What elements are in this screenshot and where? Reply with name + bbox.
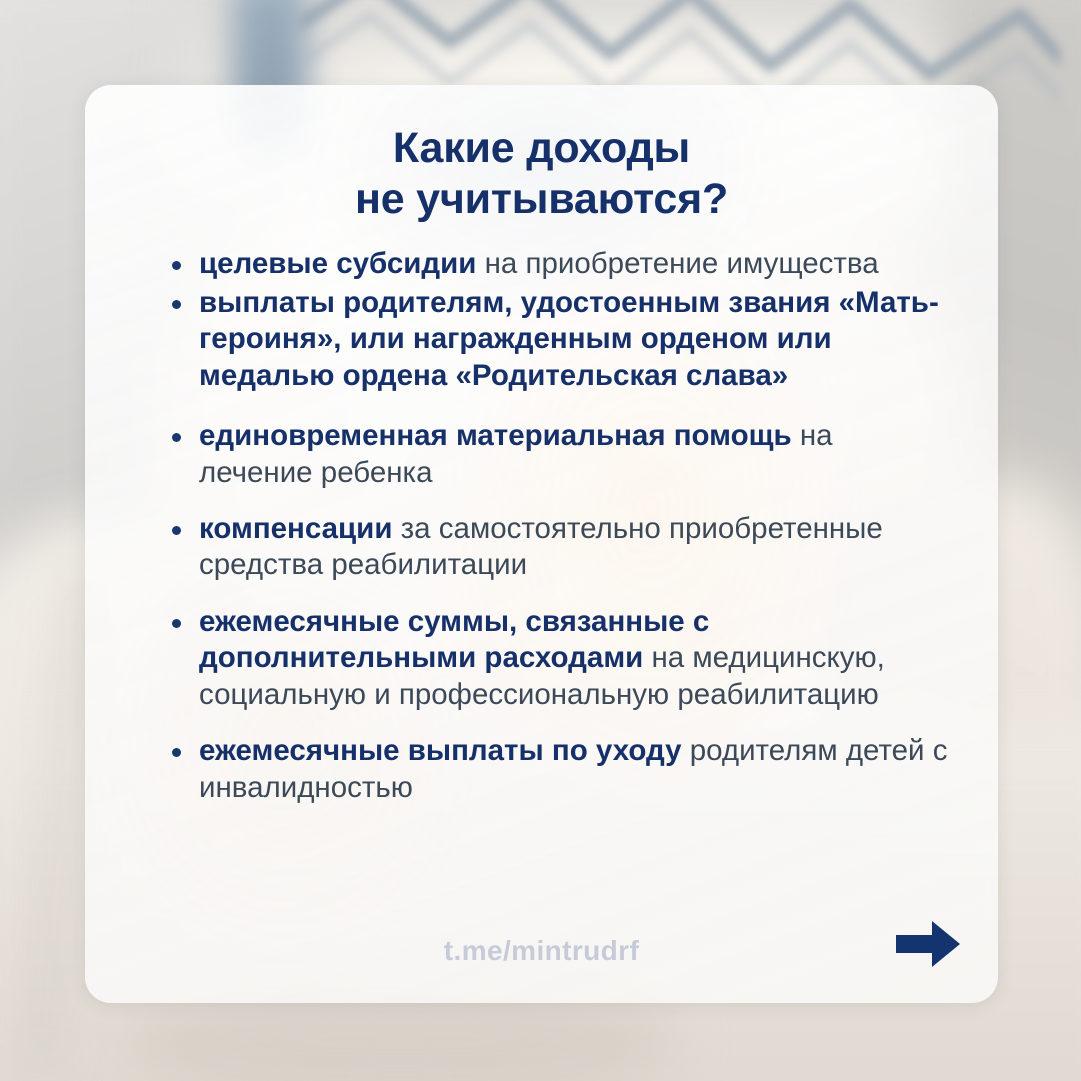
list-item: ежемесячные выплаты по уходу родителям д… <box>169 733 950 806</box>
page-title: Какие доходы не учитываются? <box>133 123 950 224</box>
list-item-bold: выплаты родителям, удостоенным звания «М… <box>199 286 939 392</box>
list-item: выплаты родителям, удостоенным звания «М… <box>169 285 950 394</box>
list-item-text: на приобретение имущества <box>485 247 879 280</box>
list-item-bold: единовременная материальная помощь <box>199 419 792 452</box>
list-item-bold: ежемесячные выплаты по уходу <box>199 734 682 767</box>
list-item: целевые субсидии на приобретение имущест… <box>169 246 950 282</box>
card-content: Какие доходы не учитываются? целевые суб… <box>85 85 998 806</box>
info-card: Какие доходы не учитываются? целевые суб… <box>85 85 998 1003</box>
income-exclusions-list: целевые субсидии на приобретение имущест… <box>133 246 950 805</box>
list-item-bold: ежемесячные суммы, связанные с дополните… <box>199 605 709 674</box>
channel-watermark: t.me/mintrudrf <box>85 935 998 967</box>
arrow-right-icon[interactable] <box>892 913 964 975</box>
title-line-1: Какие доходы <box>133 123 950 174</box>
title-line-2: не учитываются? <box>133 174 950 225</box>
list-item: единовременная материальная помощь на ле… <box>169 418 950 491</box>
list-item: компенсации за самостоятельно приобретен… <box>169 511 950 584</box>
list-item: ежемесячные суммы, связанные с дополните… <box>169 604 950 713</box>
list-item-bold: целевые субсидии <box>199 247 476 280</box>
list-item-bold: компенсации <box>199 512 392 545</box>
